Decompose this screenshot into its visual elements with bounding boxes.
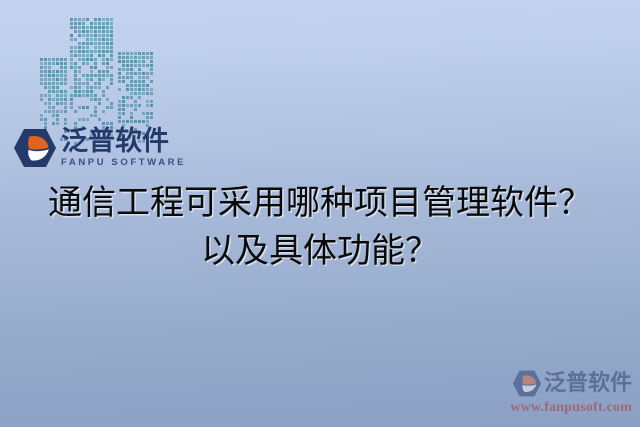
- skyline-pixel: [146, 92, 149, 95]
- skyline-pixel: [102, 30, 105, 33]
- skyline-pixel: [56, 98, 59, 101]
- brand-logo: 泛普软件 FANPU SOFTWARE: [13, 126, 186, 170]
- skyline-pixel: [90, 86, 93, 89]
- skyline-pixel: [110, 38, 113, 41]
- skyline-pixel: [82, 106, 85, 109]
- skyline-pixel: [134, 64, 137, 67]
- skyline-pixel: [130, 64, 133, 67]
- skyline-pixel: [40, 62, 43, 65]
- skyline-pixel: [98, 26, 101, 29]
- skyline-pixel: [82, 18, 85, 21]
- skyline-pixel: [98, 54, 101, 57]
- skyline-pixel: [56, 94, 59, 97]
- skyline-pixel: [98, 34, 101, 37]
- skyline-pixel: [64, 102, 67, 105]
- skyline-pixel: [94, 22, 97, 25]
- skyline-pixel: [40, 98, 43, 101]
- skyline-pixel: [90, 114, 93, 117]
- skyline-pixel: [94, 82, 97, 85]
- skyline-pixel: [118, 100, 121, 103]
- skyline-pixel: [60, 110, 63, 113]
- skyline-pixel: [78, 82, 81, 85]
- skyline-pixel: [134, 120, 137, 123]
- skyline-pixel: [142, 52, 145, 55]
- skyline-pixel: [86, 30, 89, 33]
- page-title-line-2: 以及具体功能？: [0, 228, 640, 276]
- skyline-pixel: [74, 18, 77, 21]
- skyline-pixel: [142, 84, 145, 87]
- skyline-pixel: [122, 96, 125, 99]
- skyline-pixel: [134, 104, 137, 107]
- skyline-pixel: [94, 42, 97, 45]
- skyline-pixel: [82, 50, 85, 53]
- skyline-pixel: [118, 80, 121, 83]
- skyline-pixel: [134, 108, 137, 111]
- skyline-pixel: [56, 90, 59, 93]
- skyline-pixel: [146, 64, 149, 67]
- skyline-pixel: [74, 22, 77, 25]
- skyline-pixel: [86, 74, 89, 77]
- skyline-pixel: [86, 94, 89, 97]
- skyline-pixel: [106, 34, 109, 37]
- skyline-pixel: [102, 46, 105, 49]
- skyline-pixel: [110, 82, 113, 85]
- skyline-pixel: [118, 116, 121, 119]
- skyline-pixel: [86, 54, 89, 57]
- skyline-pixel: [40, 118, 43, 121]
- skyline-pixel: [142, 64, 145, 67]
- skyline-pixel: [48, 62, 51, 65]
- skyline-pixel: [142, 88, 145, 91]
- skyline-pixel: [70, 26, 73, 29]
- skyline-pixel: [102, 110, 105, 113]
- skyline-pixel: [86, 46, 89, 49]
- skyline-pixel: [56, 86, 59, 89]
- skyline-pixel: [130, 52, 133, 55]
- skyline-pixel: [64, 90, 67, 93]
- skyline-pixel: [98, 82, 101, 85]
- skyline-pixel: [74, 122, 77, 125]
- skyline-pixel: [150, 104, 153, 107]
- skyline-pixel: [122, 108, 125, 111]
- fanpu-hexagon-logo-icon: [13, 128, 57, 168]
- skyline-pixel: [56, 122, 59, 125]
- skyline-pixel: [126, 68, 129, 71]
- skyline-pixel: [40, 78, 43, 81]
- skyline-pixel: [70, 86, 73, 89]
- skyline-pixel: [70, 62, 73, 65]
- skyline-pixel: [44, 86, 47, 89]
- skyline-pixel: [78, 94, 81, 97]
- skyline-pixel: [40, 114, 43, 117]
- skyline-pixel: [48, 110, 51, 113]
- skyline-pixel: [126, 56, 129, 59]
- promo-banner: 泛普软件 FANPU SOFTWARE 通信工程可采用哪种项目管理软件？ 以及具…: [0, 0, 640, 427]
- skyline-pixel: [94, 106, 97, 109]
- skyline-pixel: [70, 50, 73, 53]
- skyline-pixel: [94, 18, 97, 21]
- skyline-pixel: [106, 122, 109, 125]
- skyline-pixel: [142, 60, 145, 63]
- skyline-pixel: [102, 34, 105, 37]
- skyline-pixel: [146, 76, 149, 79]
- brand-name-cn: 泛普软件: [61, 128, 186, 155]
- skyline-pixel: [44, 110, 47, 113]
- watermark: 泛普软件 www.fanpusoft.com: [486, 370, 632, 415]
- skyline-pixel: [74, 30, 77, 33]
- skyline-pixel: [64, 98, 67, 101]
- skyline-pixel: [110, 34, 113, 37]
- skyline-pixel: [44, 102, 47, 105]
- skyline-pixel: [52, 78, 55, 81]
- skyline-pixel: [90, 42, 93, 45]
- skyline-pixel: [86, 82, 89, 85]
- skyline-pixel: [90, 94, 93, 97]
- skyline-pixel: [70, 106, 73, 109]
- skyline-pixel: [150, 80, 153, 83]
- skyline-pixel: [70, 66, 73, 69]
- skyline-pixel: [110, 18, 113, 21]
- skyline-pixel: [74, 50, 77, 53]
- skyline-pixel: [94, 66, 97, 69]
- skyline-pixel: [86, 118, 89, 121]
- skyline-pixel: [130, 68, 133, 71]
- skyline-pixel: [60, 58, 63, 61]
- skyline-pixel: [122, 120, 125, 123]
- skyline-pixel: [60, 78, 63, 81]
- skyline-pixel: [52, 122, 55, 125]
- skyline-pixel: [48, 102, 51, 105]
- skyline-pixel: [138, 120, 141, 123]
- skyline-pixel: [126, 104, 129, 107]
- skyline-pixel: [90, 34, 93, 37]
- skyline-pixel: [130, 104, 133, 107]
- skyline-pixel: [64, 82, 67, 85]
- skyline-pixel: [52, 106, 55, 109]
- skyline-pixel: [94, 50, 97, 53]
- skyline-pixel: [126, 72, 129, 75]
- skyline-pixel: [48, 66, 51, 69]
- skyline-pixel: [70, 58, 73, 61]
- skyline-pixel: [44, 70, 47, 73]
- skyline-pixel: [78, 42, 81, 45]
- skyline-pixel: [52, 74, 55, 77]
- skyline-pixel: [98, 118, 101, 121]
- skyline-pixel: [106, 86, 109, 89]
- skyline-pixel: [150, 116, 153, 119]
- skyline-pixel: [78, 26, 81, 29]
- skyline-pixel: [130, 56, 133, 59]
- skyline-pixel: [90, 38, 93, 41]
- skyline-pixel: [142, 80, 145, 83]
- skyline-pixel: [138, 92, 141, 95]
- skyline-pixel: [130, 88, 133, 91]
- watermark-logo-row: 泛普软件: [486, 370, 632, 397]
- skyline-pixel: [90, 74, 93, 77]
- skyline-pixel: [118, 104, 121, 107]
- skyline-pixel: [102, 42, 105, 45]
- skyline-pixel: [98, 50, 101, 53]
- pixel-city-skyline-icon: [40, 18, 160, 122]
- skyline-pixel: [146, 88, 149, 91]
- skyline-pixel: [86, 18, 89, 21]
- skyline-pixel: [74, 62, 77, 65]
- skyline-pixel: [98, 102, 101, 105]
- skyline-pixel: [94, 58, 97, 61]
- skyline-pixel: [122, 60, 125, 63]
- skyline-pixel: [126, 60, 129, 63]
- skyline-pixel: [146, 112, 149, 115]
- skyline-pixel: [102, 90, 105, 93]
- skyline-pixel: [86, 90, 89, 93]
- skyline-pixel: [98, 42, 101, 45]
- skyline-pixel: [74, 74, 77, 77]
- skyline-pixel: [110, 42, 113, 45]
- skyline-pixel: [110, 78, 113, 81]
- skyline-pixel: [150, 100, 153, 103]
- skyline-pixel: [94, 46, 97, 49]
- skyline-pixel: [126, 88, 129, 91]
- skyline-pixel: [86, 78, 89, 81]
- skyline-pixel: [134, 56, 137, 59]
- skyline-pixel: [86, 86, 89, 89]
- skyline-pixel: [74, 70, 77, 73]
- skyline-pixel: [64, 66, 67, 69]
- skyline-pixel: [130, 112, 133, 115]
- skyline-pixel: [70, 94, 73, 97]
- skyline-pixel: [126, 76, 129, 79]
- skyline-pixel: [122, 100, 125, 103]
- skyline-pixel: [138, 56, 141, 59]
- skyline-pixel: [102, 78, 105, 81]
- skyline-pixel: [122, 68, 125, 71]
- skyline-pixel: [70, 98, 73, 101]
- skyline-pixel: [60, 74, 63, 77]
- skyline-pixel: [130, 76, 133, 79]
- skyline-pixel: [70, 46, 73, 49]
- skyline-pixel: [98, 74, 101, 77]
- skyline-pixel: [122, 80, 125, 83]
- skyline-pixel: [94, 26, 97, 29]
- skyline-pixel: [44, 118, 47, 121]
- skyline-pixel: [44, 122, 47, 125]
- page-title: 通信工程可采用哪种项目管理软件？ 以及具体功能？: [0, 180, 640, 275]
- skyline-pixel: [106, 98, 109, 101]
- skyline-pixel: [52, 62, 55, 65]
- skyline-pixel: [106, 70, 109, 73]
- skyline-pixel: [44, 94, 47, 97]
- skyline-pixel: [48, 58, 51, 61]
- skyline-pixel: [126, 84, 129, 87]
- skyline-pixel: [40, 82, 43, 85]
- skyline-pixel: [102, 70, 105, 73]
- skyline-pixel: [94, 38, 97, 41]
- skyline-pixel: [150, 60, 153, 63]
- skyline-pixel: [60, 66, 63, 69]
- skyline-pixel: [64, 110, 67, 113]
- skyline-pixel: [110, 106, 113, 109]
- skyline-pixel: [82, 46, 85, 49]
- skyline-pixel: [74, 46, 77, 49]
- skyline-pixel: [138, 80, 141, 83]
- skyline-pixel: [64, 74, 67, 77]
- skyline-pixel: [82, 34, 85, 37]
- skyline-pixel: [150, 64, 153, 67]
- skyline-pixel: [60, 90, 63, 93]
- skyline-pixel: [74, 110, 77, 113]
- skyline-pixel: [90, 50, 93, 53]
- skyline-pixel: [86, 62, 89, 65]
- skyline-pixel: [70, 18, 73, 21]
- skyline-pixel: [44, 58, 47, 61]
- skyline-pixel: [102, 94, 105, 97]
- skyline-pixel: [74, 54, 77, 57]
- skyline-pixel: [138, 104, 141, 107]
- skyline-pixel: [102, 74, 105, 77]
- skyline-pixel: [110, 122, 113, 125]
- skyline-pixel: [98, 70, 101, 73]
- skyline-pixel: [56, 74, 59, 77]
- skyline-pixel: [52, 86, 55, 89]
- skyline-pixel: [86, 50, 89, 53]
- skyline-pixel: [78, 22, 81, 25]
- skyline-pixel: [146, 52, 149, 55]
- skyline-pixel: [106, 26, 109, 29]
- skyline-pixel: [102, 38, 105, 41]
- skyline-pixel: [130, 80, 133, 83]
- skyline-pixel: [70, 38, 73, 41]
- skyline-pixel: [48, 78, 51, 81]
- skyline-pixel: [44, 78, 47, 81]
- skyline-pixel: [56, 70, 59, 73]
- skyline-pixel: [52, 58, 55, 61]
- skyline-pixel: [56, 78, 59, 81]
- skyline-pixel: [78, 30, 81, 33]
- skyline-pixel: [60, 82, 63, 85]
- skyline-pixel: [106, 18, 109, 21]
- skyline-pixel: [138, 76, 141, 79]
- skyline-pixel: [78, 70, 81, 73]
- skyline-pixel: [126, 64, 129, 67]
- skyline-pixel: [146, 84, 149, 87]
- skyline-pixel: [94, 62, 97, 65]
- skyline-pixel: [64, 106, 67, 109]
- skyline-pixel: [138, 52, 141, 55]
- skyline-pixel: [78, 90, 81, 93]
- skyline-pixel: [82, 118, 85, 121]
- skyline-pixel: [102, 22, 105, 25]
- skyline-pixel: [110, 46, 113, 49]
- skyline-pixel: [82, 90, 85, 93]
- skyline-pixel: [110, 58, 113, 61]
- skyline-pixel: [90, 30, 93, 33]
- skyline-pixel: [74, 94, 77, 97]
- skyline-pixel: [90, 66, 93, 69]
- skyline-pixel: [130, 116, 133, 119]
- skyline-pixel: [82, 58, 85, 61]
- skyline-pixel: [94, 86, 97, 89]
- page-title-line-1: 通信工程可采用哪种项目管理软件？: [0, 180, 640, 228]
- skyline-pixel: [90, 98, 93, 101]
- skyline-pixel: [48, 86, 51, 89]
- skyline-pixel: [138, 64, 141, 67]
- skyline-pixel: [126, 120, 129, 123]
- skyline-pixel: [134, 80, 137, 83]
- skyline-pixel: [138, 84, 141, 87]
- skyline-pixel: [64, 78, 67, 81]
- skyline-pixel: [98, 18, 101, 21]
- skyline-pixel: [40, 94, 43, 97]
- skyline-pixel: [146, 116, 149, 119]
- skyline-pixel: [90, 26, 93, 29]
- skyline-pixel: [60, 62, 63, 65]
- skyline-pixel: [44, 82, 47, 85]
- skyline-pixel: [142, 92, 145, 95]
- watermark-brand-name: 泛普软件: [544, 373, 632, 395]
- skyline-pixel: [90, 22, 93, 25]
- skyline-pixel: [118, 60, 121, 63]
- skyline-pixel: [82, 82, 85, 85]
- skyline-pixel: [70, 34, 73, 37]
- skyline-pixel: [106, 58, 109, 61]
- skyline-pixel: [52, 114, 55, 117]
- skyline-pixel: [60, 102, 63, 105]
- skyline-pixel: [56, 82, 59, 85]
- skyline-pixel: [70, 22, 73, 25]
- skyline-pixel: [150, 52, 153, 55]
- skyline-pixel: [90, 78, 93, 81]
- skyline-pixel: [78, 58, 81, 61]
- skyline-pixel: [48, 106, 51, 109]
- skyline-pixel: [44, 66, 47, 69]
- skyline-pixel: [56, 102, 59, 105]
- skyline-pixel: [94, 74, 97, 77]
- skyline-pixel: [74, 78, 77, 81]
- skyline-pixel: [122, 112, 125, 115]
- skyline-pixel: [146, 120, 149, 123]
- skyline-pixel: [118, 120, 121, 123]
- skyline-pixel: [146, 56, 149, 59]
- skyline-pixel: [106, 66, 109, 69]
- skyline-pixel: [48, 94, 51, 97]
- skyline-pixel: [82, 62, 85, 65]
- skyline-pixel: [102, 26, 105, 29]
- skyline-pixel: [40, 58, 43, 61]
- skyline-pixel: [64, 118, 67, 121]
- skyline-pixel: [130, 60, 133, 63]
- skyline-pixel: [118, 108, 121, 111]
- skyline-pixel: [134, 88, 137, 91]
- skyline-pixel: [64, 94, 67, 97]
- skyline-pixel: [134, 84, 137, 87]
- skyline-pixel: [40, 66, 43, 69]
- skyline-pixel: [102, 50, 105, 53]
- skyline-pixel: [56, 62, 59, 65]
- skyline-pixel: [146, 100, 149, 103]
- skyline-pixel: [142, 112, 145, 115]
- skyline-pixel: [110, 26, 113, 29]
- skyline-pixel: [40, 74, 43, 77]
- skyline-pixel: [78, 66, 81, 69]
- skyline-pixel: [78, 50, 81, 53]
- skyline-pixel: [106, 38, 109, 41]
- skyline-pixel: [48, 70, 51, 73]
- skyline-pixel: [122, 76, 125, 79]
- skyline-pixel: [142, 56, 145, 59]
- skyline-pixel: [130, 120, 133, 123]
- skyline-pixel: [110, 66, 113, 69]
- skyline-pixel: [86, 58, 89, 61]
